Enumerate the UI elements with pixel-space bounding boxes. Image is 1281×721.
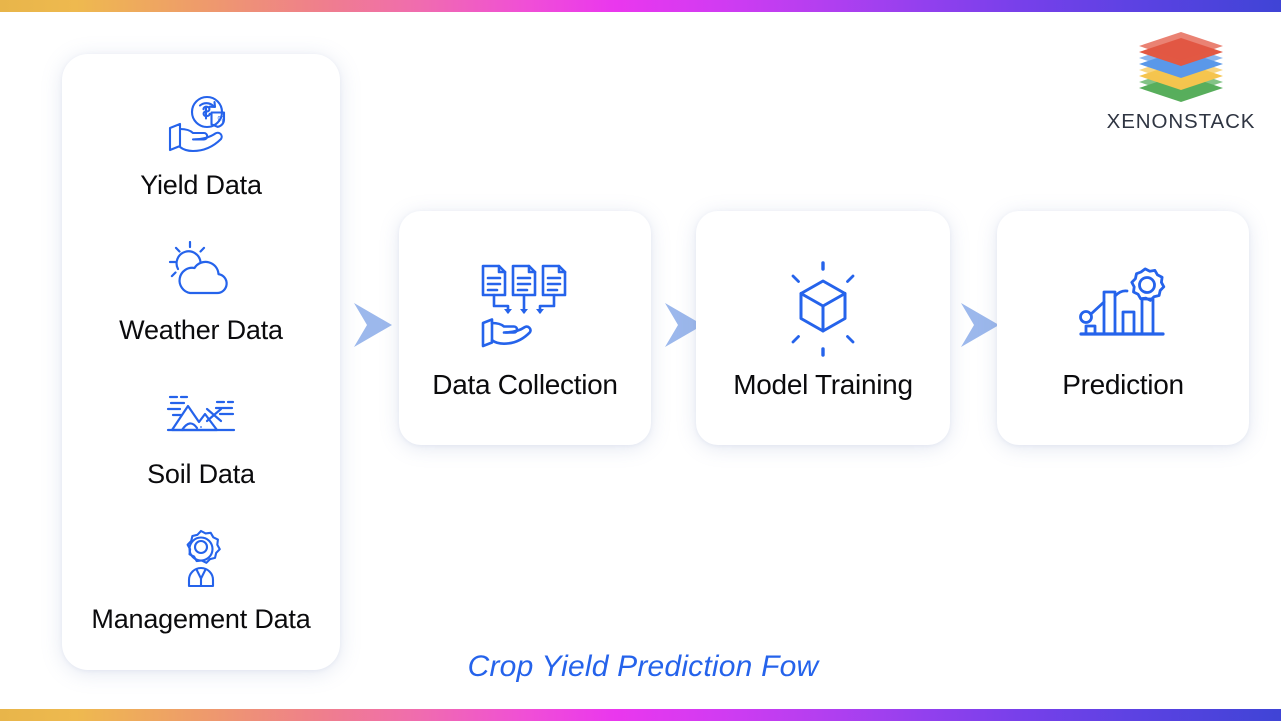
stacked-layers-icon <box>1131 28 1231 106</box>
source-item-soil-data[interactable]: Soil Data <box>72 383 330 491</box>
stage-label: Prediction <box>1062 369 1184 401</box>
sun-behind-cloud-icon <box>162 239 240 301</box>
diagram-caption: Crop Yield Prediction Fow <box>0 650 1281 684</box>
stage-card-model-training[interactable]: Model Training <box>696 211 950 445</box>
data-sources-panel: % Yield Data Weather Data <box>62 54 340 670</box>
source-label: Soil Data <box>147 459 255 491</box>
svg-text:%: % <box>218 115 225 124</box>
source-label: Weather Data <box>119 315 283 347</box>
source-item-management-data[interactable]: Management Data <box>72 528 330 636</box>
person-in-gear-icon <box>167 528 235 590</box>
source-item-weather-data[interactable]: Weather Data <box>72 239 330 347</box>
caption-text: Crop Yield Prediction Fow <box>468 650 819 684</box>
source-label: Management Data <box>91 604 310 636</box>
hand-holding-pie-chart-dollar-icon: % <box>162 94 240 156</box>
brand-name: XENONSTACK <box>1098 110 1264 134</box>
top-gradient-bar <box>0 0 1281 12</box>
bottom-gradient-bar <box>0 709 1281 721</box>
documents-into-hand-icon <box>473 255 577 363</box>
bar-chart-gear-icon <box>1075 255 1171 363</box>
source-label: Yield Data <box>140 170 262 202</box>
stage-label: Model Training <box>733 369 912 401</box>
radiating-cube-icon <box>773 255 873 363</box>
chevron-right-arrow-icon <box>350 300 396 350</box>
terrain-landscape-icon <box>162 383 240 445</box>
source-item-yield-data[interactable]: % Yield Data <box>72 94 330 202</box>
brand-logo: XENONSTACK <box>1098 28 1264 144</box>
stage-card-data-collection[interactable]: Data Collection <box>399 211 651 445</box>
stage-card-prediction[interactable]: Prediction <box>997 211 1249 445</box>
stage-label: Data Collection <box>432 369 617 401</box>
